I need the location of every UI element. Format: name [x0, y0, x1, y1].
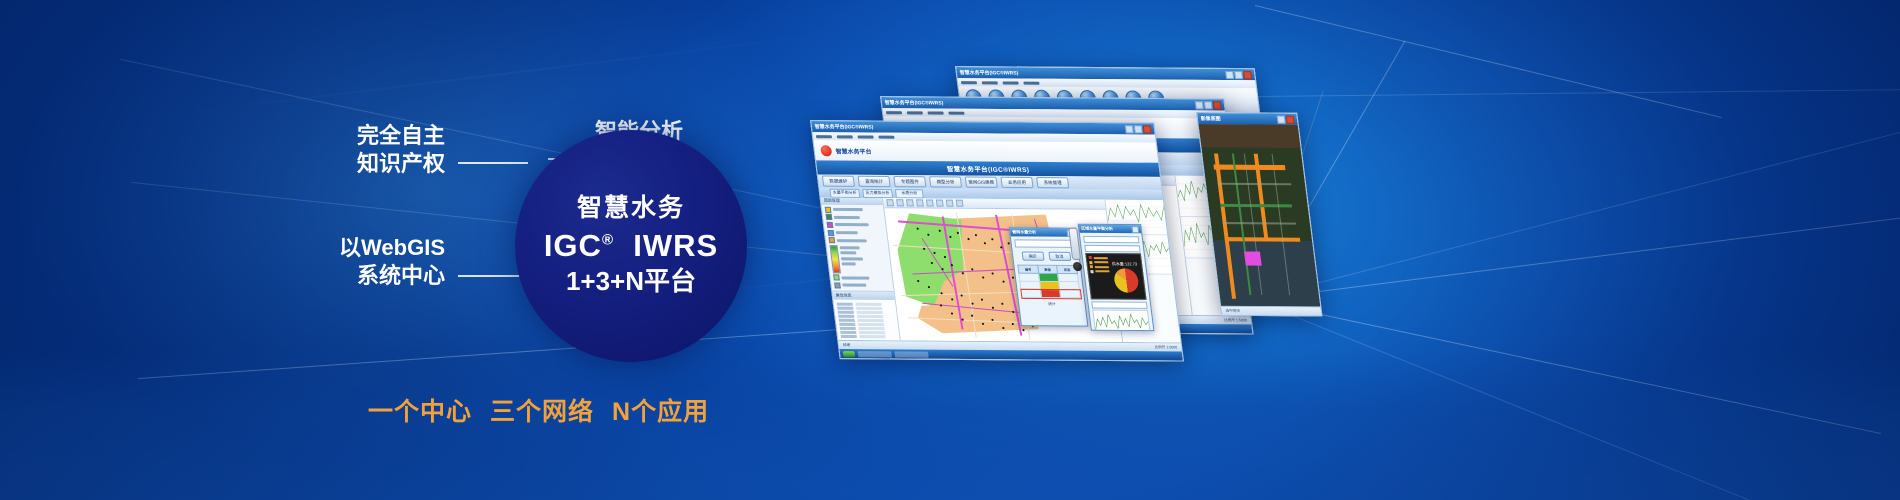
- property-key: [841, 335, 857, 338]
- pipe-node: [1012, 277, 1014, 279]
- menu-item[interactable]: [927, 111, 943, 114]
- pipe-node: [992, 272, 994, 274]
- layer-swatch-icon: [829, 237, 836, 243]
- cell-status-warn: [1039, 281, 1060, 289]
- layer-label: [833, 208, 863, 211]
- dialog-title: 管网水量分析: [1012, 229, 1037, 235]
- menu-item[interactable]: [907, 111, 923, 114]
- pipe-node: [981, 299, 983, 301]
- property-key: [839, 319, 855, 322]
- pipe-node: [982, 323, 984, 325]
- dialog-buttons[interactable]: 确定 取消: [1016, 251, 1077, 261]
- data-panel-mini-chart: [1092, 309, 1151, 331]
- banner-stage: 完全自主 知识产权 以WebGIS 系统中心 智能分析 数据展示 C/S+B/S…: [0, 0, 1900, 500]
- pipe-node: [992, 307, 994, 309]
- pipe-node: [991, 319, 993, 321]
- layer-label: [835, 223, 869, 226]
- legend-swatch-icon: [1090, 270, 1093, 273]
- pipe-node: [928, 286, 930, 288]
- satellite-map-canvas[interactable]: [1198, 124, 1320, 306]
- legend-swatch-icon: [1089, 256, 1092, 259]
- dialog-cancel-button[interactable]: 取消: [1048, 252, 1071, 261]
- satellite-window-titlebar[interactable]: 影像底图: [1197, 113, 1298, 125]
- menu-item[interactable]: [961, 81, 977, 84]
- sub-button-water-balance[interactable]: 水量平衡分析: [829, 188, 860, 197]
- zoom-out-icon[interactable]: [906, 199, 914, 206]
- menu-item[interactable]: [878, 135, 894, 138]
- pipe-node: [1002, 327, 1004, 329]
- pipe-node: [971, 268, 973, 270]
- pipe-node: [931, 262, 933, 264]
- close-icon[interactable]: [1243, 71, 1252, 79]
- pipe-node: [971, 303, 973, 305]
- satellite-road-main: [1224, 237, 1300, 242]
- dialog-input[interactable]: [1014, 239, 1075, 247]
- satellite-urban-band: [1198, 124, 1300, 148]
- legend-swatch-icon: [1090, 265, 1093, 268]
- center-circle: 智慧水务 IGC® IWRS 1+3+N平台: [515, 130, 747, 362]
- property-value: [856, 303, 882, 306]
- nav-button-business-app[interactable]: 业务应用: [1000, 177, 1033, 188]
- pie-chart-panel: 供水量:122.73: [1085, 253, 1146, 300]
- legend-text: [1093, 257, 1107, 259]
- window-title-front: 智慧水务平台(IGC®IWRS): [814, 123, 873, 130]
- pipe-node: [951, 264, 953, 266]
- property-row: [839, 319, 895, 322]
- minimize-icon[interactable]: [1225, 70, 1234, 78]
- pipe-node: [927, 234, 929, 236]
- property-row: [837, 307, 893, 310]
- pipe-node: [984, 242, 986, 244]
- data-panel-close-icon[interactable]: [1131, 226, 1139, 233]
- dialog-col-value: 数值: [1037, 265, 1058, 273]
- pie-legend-item: [1089, 261, 1108, 264]
- layer-tree-item[interactable]: [827, 222, 883, 228]
- brand-text-front: 智慧水务平台: [835, 146, 872, 155]
- cell: [1020, 281, 1041, 289]
- pipe-node: [962, 319, 964, 321]
- pipe-node: [940, 304, 942, 306]
- pipe-node: [971, 315, 973, 317]
- minimize-icon[interactable]: [1277, 115, 1286, 123]
- pipe-node: [933, 252, 935, 254]
- layer-tree-item[interactable]: [825, 207, 881, 213]
- pie-legend: [1089, 256, 1112, 296]
- connector-top-left: [458, 162, 528, 164]
- dialog-col-id: 编号: [1018, 265, 1039, 273]
- maximize-icon[interactable]: [1234, 71, 1243, 79]
- feature-bottom-left-line1: 以WebGIS: [285, 234, 445, 262]
- pipe-node: [951, 313, 953, 315]
- layer-tree-item[interactable]: [826, 214, 882, 220]
- property-row: [840, 331, 896, 334]
- nav-button-model-analysis[interactable]: 模型分析: [929, 176, 962, 187]
- nav-button-system-manage[interactable]: 系统管理: [1036, 177, 1069, 188]
- pie-chart-shape: [1113, 268, 1140, 292]
- close-icon[interactable]: [1286, 115, 1295, 123]
- pipe-node: [1022, 329, 1024, 331]
- pipe-node: [961, 294, 963, 296]
- property-value: [860, 335, 886, 338]
- window-title-back: 智慧水务平台(IGC®IWRS): [959, 69, 1018, 76]
- menu-item[interactable]: [857, 135, 873, 138]
- window-title-middle: 智慧水务平台(IGC®IWRS): [884, 99, 943, 106]
- legend-swatch-icon: [1089, 261, 1092, 264]
- cell: [1019, 273, 1040, 281]
- pipe-node: [1012, 311, 1014, 313]
- pipe-node: [1001, 303, 1003, 305]
- zoom-in-icon[interactable]: [896, 199, 904, 206]
- sub-button-pressure-sim[interactable]: 压力模拟分析: [862, 188, 893, 197]
- pipe-node: [967, 238, 969, 240]
- property-row: [841, 335, 897, 338]
- satellite-status-label: 选中地块: [1225, 308, 1240, 313]
- pipe-node: [923, 248, 925, 250]
- window-controls-middle[interactable]: [1195, 101, 1222, 109]
- app-banner-title-front: 智慧水务平台(IGC®IWRS): [946, 163, 1030, 174]
- property-value: [859, 331, 885, 334]
- cell: [1060, 290, 1081, 298]
- satellite-road-secondary: [1220, 204, 1292, 207]
- slogan-part-1: 一个中心: [368, 398, 472, 426]
- layer-tree[interactable]: [821, 205, 893, 291]
- nav-button-data-maintenance[interactable]: 数据维护: [822, 176, 855, 187]
- identify-icon[interactable]: [926, 199, 934, 206]
- layer-label: [841, 276, 869, 279]
- registered-mark-icon: ®: [602, 231, 614, 248]
- layer-label: [837, 239, 867, 242]
- circle-brand-igc: IGC: [544, 228, 602, 263]
- feature-top-left: 完全自主 知识产权: [285, 122, 445, 178]
- data-panel-filter-input[interactable]: [1083, 236, 1139, 243]
- legend-label: [840, 251, 856, 254]
- select-icon[interactable]: [916, 199, 924, 206]
- pipe-node: [957, 232, 959, 234]
- pipe-node: [975, 234, 977, 236]
- menu-item[interactable]: [816, 135, 832, 138]
- menu-item[interactable]: [837, 135, 853, 138]
- measure-icon[interactable]: [936, 200, 944, 207]
- property-value: [857, 311, 883, 314]
- pipe-node: [1002, 281, 1004, 283]
- layer-swatch-icon: [826, 214, 833, 220]
- start-button-icon[interactable]: [843, 351, 856, 357]
- menu-item[interactable]: [1023, 81, 1039, 84]
- property-key: [839, 323, 855, 326]
- property-key: [840, 331, 856, 334]
- property-row: [838, 315, 894, 318]
- pipe-node: [951, 298, 953, 300]
- status-left-front: 就绪: [843, 342, 851, 347]
- app-window-front[interactable]: 智慧水务平台(IGC®IWRS) 智慧水务平台 智慧水务平台(IGC®IWRS)…: [810, 120, 1184, 362]
- property-row: [838, 311, 894, 314]
- circle-line1: 智慧水务: [577, 195, 685, 223]
- slogan-part-3: N个应用: [612, 398, 709, 426]
- pipe-node: [1012, 323, 1014, 325]
- menu-item[interactable]: [948, 111, 964, 114]
- menu-item[interactable]: [982, 81, 998, 84]
- taskbar-item-app[interactable]: [857, 351, 891, 357]
- pipe-node: [1000, 246, 1002, 248]
- satellite-road-minor: [1223, 222, 1297, 225]
- property-row: [837, 303, 893, 306]
- legend-label: [840, 246, 860, 249]
- data-analysis-panel[interactable]: 区域水量平衡分析 供水量:122.73: [1078, 224, 1155, 331]
- nav-button-query-statistics[interactable]: 查询统计: [858, 176, 891, 187]
- pie-metric-label: 供水量:122.73: [1112, 261, 1138, 267]
- satellite-statusbar: 选中地块: [1221, 306, 1321, 316]
- pipe-node: [982, 276, 984, 278]
- legend-text: [1094, 261, 1108, 263]
- pipe-node: [944, 256, 946, 258]
- slogan: 一个中心三个网络N个应用: [368, 392, 727, 428]
- feature-top-left-line1: 完全自主: [285, 122, 445, 150]
- property-key: [837, 307, 853, 310]
- layer-swatch-icon: [833, 275, 840, 281]
- layer-tree-item[interactable]: [828, 230, 884, 236]
- pipe-node: [991, 238, 993, 240]
- pie-chart-area: 供水量:122.73: [1109, 256, 1143, 297]
- maximize-icon[interactable]: [1204, 101, 1213, 109]
- circle-line2: IGC® IWRS: [544, 229, 718, 263]
- dialog-table-row[interactable]: [1021, 289, 1081, 297]
- pipe-node: [917, 228, 919, 230]
- cell-status-ok: [1038, 273, 1059, 281]
- close-icon[interactable]: [1213, 101, 1222, 109]
- pan-joystick-icon[interactable]: [1072, 262, 1082, 271]
- property-value: [858, 319, 884, 322]
- property-key: [838, 315, 854, 318]
- layer-swatch-icon: [825, 207, 832, 213]
- property-value: [858, 323, 884, 326]
- feature-top-left-line2: 知识产权: [285, 150, 445, 178]
- company-logo-icon: [820, 145, 832, 156]
- minimize-icon[interactable]: [1125, 125, 1134, 133]
- selected-parcel[interactable]: [1244, 251, 1262, 266]
- brand-bar-front: 智慧水务平台: [813, 140, 1158, 163]
- property-value: [857, 315, 883, 318]
- menu-item[interactable]: [886, 111, 902, 114]
- layer-tree-item[interactable]: [834, 282, 890, 288]
- data-panel-body: 供水量:122.73: [1080, 233, 1155, 331]
- concept-diagram: 完全自主 知识产权 以WebGIS 系统中心 智能分析 数据展示 C/S+B/S…: [290, 100, 850, 400]
- layer-legend-ramp: [829, 245, 888, 274]
- layer-label: [834, 216, 860, 219]
- status-right-front: 比例尺 1:5000: [1154, 345, 1177, 350]
- property-row: [840, 327, 896, 330]
- dialog-ok-button[interactable]: 确定: [1021, 252, 1044, 261]
- taskbar-front[interactable]: [839, 349, 1182, 361]
- properties-panel[interactable]: 属性信息: [832, 290, 900, 340]
- status-right-middle: 比例尺 1:5000: [1224, 318, 1247, 323]
- legend-text: [1095, 270, 1109, 272]
- layer-tree-item[interactable]: [833, 275, 889, 281]
- property-row: [839, 323, 895, 326]
- window-controls-back[interactable]: [1225, 70, 1252, 78]
- data-panel-extra-input[interactable]: [1091, 301, 1147, 308]
- maximize-icon[interactable]: [1134, 125, 1143, 133]
- property-key: [838, 311, 854, 314]
- layer-tree-item[interactable]: [829, 237, 885, 243]
- legend-text: [1094, 266, 1108, 268]
- legend-label: [842, 262, 856, 265]
- circle-line3: 1+3+N平台: [566, 267, 696, 297]
- property-value: [859, 327, 885, 330]
- feature-bottom-left-line2: 系统中心: [285, 262, 445, 290]
- dialog-footer-label: 统计: [1022, 302, 1082, 307]
- layer-swatch-icon: [828, 230, 835, 236]
- pie-legend-item: [1090, 270, 1109, 273]
- layer-swatch-icon: [834, 282, 841, 288]
- layer-label: [842, 284, 866, 287]
- slogan-part-2: 三个网络: [490, 398, 594, 426]
- pipe-node: [941, 268, 943, 270]
- property-value: [856, 307, 882, 310]
- pipe-node: [939, 230, 941, 232]
- pipe-node: [917, 280, 919, 282]
- nav-button-thematic-map[interactable]: 专题图件: [893, 176, 926, 187]
- layer-label: [836, 231, 858, 234]
- pipe-node: [962, 272, 964, 274]
- cell: [1021, 289, 1042, 297]
- sub-button-quality[interactable]: 水质分析: [895, 189, 924, 198]
- pie-legend-item: [1089, 256, 1108, 259]
- data-panel-date-input[interactable]: [1084, 244, 1140, 251]
- properties-panel-header: 属性信息: [832, 291, 895, 300]
- satellite-road-minor: [1218, 182, 1292, 185]
- layer-icon[interactable]: [956, 200, 964, 207]
- menu-item[interactable]: [1002, 81, 1018, 84]
- property-key: [837, 303, 853, 306]
- taskbar-item-gis[interactable]: [894, 351, 928, 357]
- circle-brand-iwrs: IWRS: [633, 228, 718, 263]
- pipe-node: [949, 236, 951, 238]
- window-controls-front[interactable]: [1125, 125, 1152, 133]
- pipe-node: [1008, 242, 1010, 244]
- pan-icon[interactable]: [886, 199, 894, 206]
- minimize-icon[interactable]: [1195, 101, 1204, 109]
- legend-label: [841, 257, 863, 260]
- print-icon[interactable]: [946, 200, 954, 207]
- dialog-table: 编号 数值 状态: [1017, 265, 1081, 299]
- data-panel-title: 区域水量平衡分析: [1081, 226, 1113, 232]
- close-icon[interactable]: [1143, 125, 1152, 133]
- pie-legend-item: [1090, 265, 1109, 268]
- satellite-window-controls[interactable]: [1277, 115, 1295, 123]
- satellite-window-title: 影像底图: [1200, 115, 1221, 122]
- property-key: [840, 327, 856, 330]
- feature-bottom-left: 以WebGIS 系统中心: [285, 234, 445, 290]
- data-panel-trend-svg: [1093, 310, 1150, 331]
- layer-swatch-icon: [827, 222, 834, 228]
- cell-status-alert: [1040, 289, 1061, 297]
- pipe-node: [940, 292, 942, 294]
- nav-button-gis-modeling[interactable]: 管网GIS建模: [965, 177, 998, 188]
